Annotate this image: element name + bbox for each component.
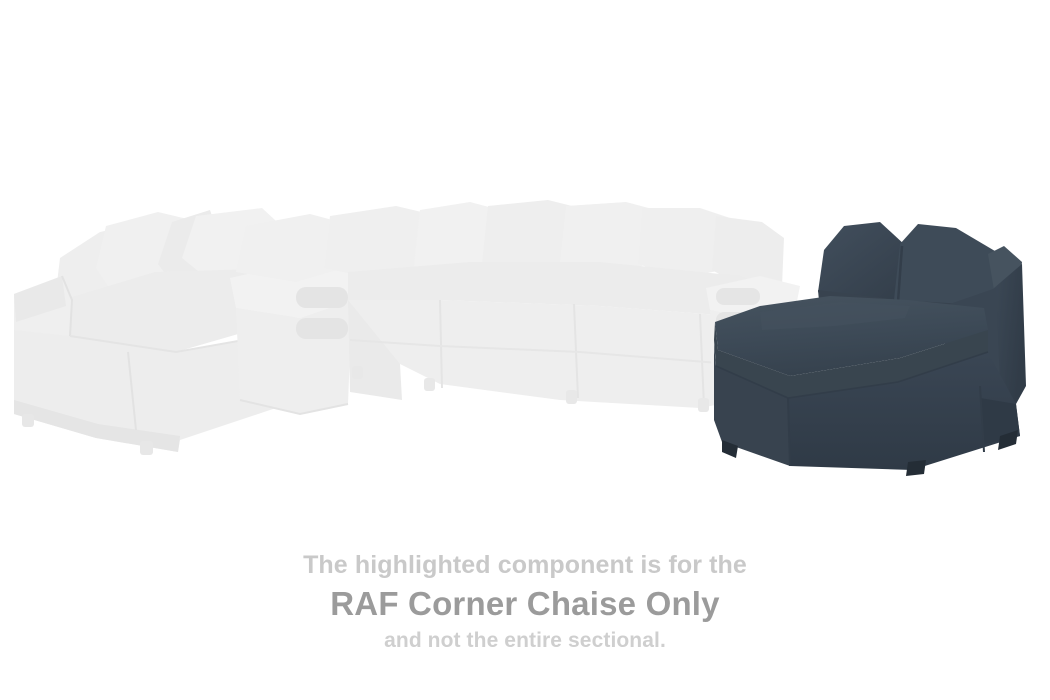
ghost-foot <box>698 398 709 412</box>
caption-line-2-product-name: RAF Corner Chaise Only <box>0 582 1050 626</box>
chaise-foot <box>906 460 926 476</box>
ghosted-sectional-group <box>14 200 800 455</box>
ghost-foot <box>22 414 34 427</box>
ghost-module-console <box>230 264 356 414</box>
ghost-cup-holder <box>296 287 348 308</box>
ghost-foot <box>424 378 435 391</box>
caption-block: The highlighted component is for the RAF… <box>0 548 1050 656</box>
ghost-cup-holder <box>296 318 348 339</box>
caption-line-1: The highlighted component is for the <box>0 548 1050 582</box>
ghost-foot <box>566 390 577 404</box>
caption-line-3: and not the entire sectional. <box>0 626 1050 656</box>
ghost-console-body <box>236 300 352 414</box>
ghost-foot <box>140 441 153 455</box>
ghost-cup-holder <box>716 288 760 305</box>
ghost-foot <box>352 366 363 379</box>
